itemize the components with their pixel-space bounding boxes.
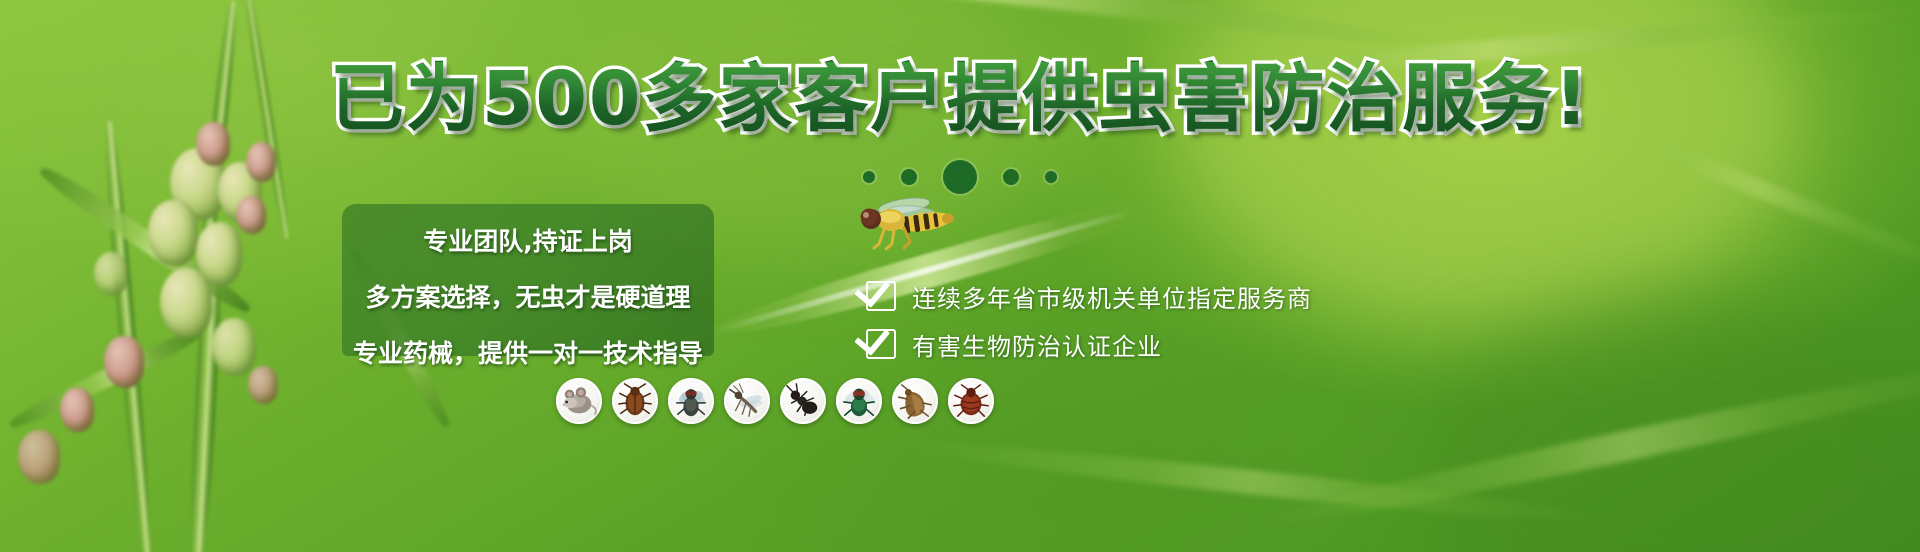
decor-dot-medium	[901, 169, 917, 185]
blowfly-icon[interactable]	[836, 378, 882, 424]
cockroach-icon[interactable]	[612, 378, 658, 424]
list-item: 有害生物防治认证企业	[866, 320, 1312, 368]
decor-dot-medium	[1003, 169, 1019, 185]
decor-dot-large	[943, 160, 977, 194]
decor-dot-small	[1045, 171, 1057, 183]
page-title-outline: 已为500多家客户提供虫害防治服务!	[0, 62, 1920, 136]
check-label: 连续多年省市级机关单位指定服务商	[912, 279, 1312, 314]
slogan-line-2: 多方案选择，无虫才是硬道理	[342, 278, 714, 314]
hoverfly-icon	[846, 196, 966, 256]
checkbox-checked-icon	[866, 329, 896, 359]
promotional-banner: 已为500多家客户提供虫害防治服务! 已为500多家客户提供虫害防治服务! 专业…	[0, 0, 1920, 552]
check-label: 有害生物防治认证企业	[912, 327, 1162, 362]
list-item: 连续多年省市级机关单位指定服务商	[866, 272, 1312, 320]
feature-check-list: 连续多年省市级机关单位指定服务商 有害生物防治认证企业	[866, 272, 1312, 368]
slogan-panel: 专业团队,持证上岗 多方案选择，无虫才是硬道理 专业药械，提供一对一技术指导	[342, 204, 714, 356]
slogan-line-3: 专业药械，提供一对一技术指导	[342, 334, 714, 370]
ant-icon[interactable]	[780, 378, 826, 424]
bedbug-icon[interactable]	[948, 378, 994, 424]
decor-dot-row	[0, 160, 1920, 194]
mouse-icon[interactable]	[556, 378, 602, 424]
pest-icon-strip	[556, 378, 994, 424]
flea-icon[interactable]	[892, 378, 938, 424]
mosquito-icon[interactable]	[724, 378, 770, 424]
checkbox-checked-icon	[866, 281, 896, 311]
fly-icon[interactable]	[668, 378, 714, 424]
decor-dot-small	[863, 171, 875, 183]
slogan-line-1: 专业团队,持证上岗	[342, 222, 714, 258]
